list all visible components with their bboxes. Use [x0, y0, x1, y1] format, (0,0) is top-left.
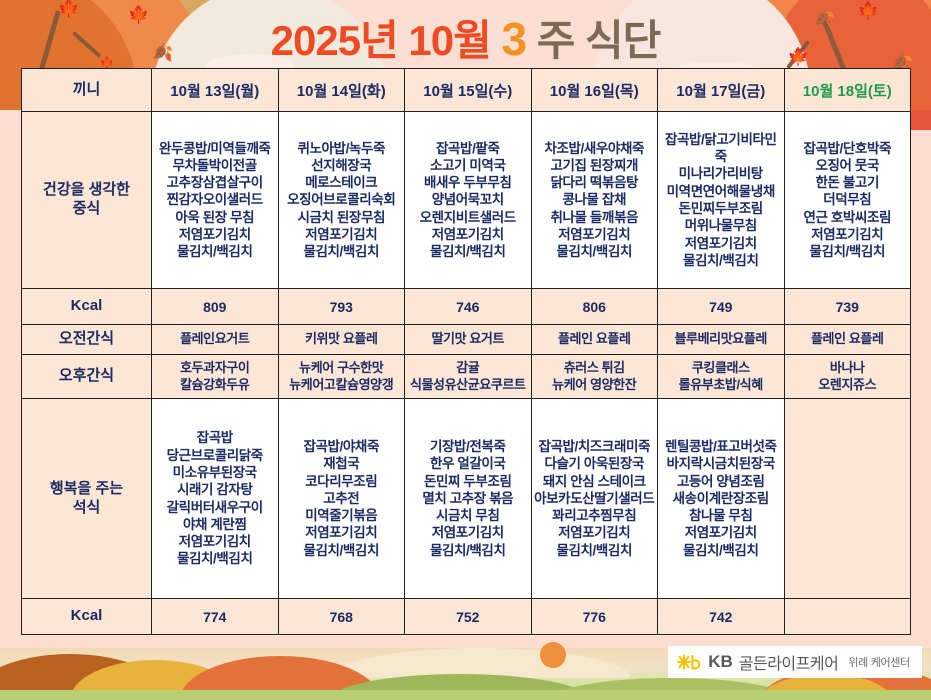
afternoon-snack-thu: 츄러스 튀김뉴케어 영양한잔	[531, 355, 658, 399]
footer-logo: KB 골든라이프케어 위례 케어센터	[668, 646, 922, 678]
row-label-dinner-kcal: Kcal	[22, 599, 152, 635]
header-day-thu: 10월 16일(목)	[531, 69, 658, 112]
lunch-cell-fri: 잡곡밥/닭고기비타민죽미나리가리비탕미역면연어해물냉채돈민찌두부조림머위나물무침…	[658, 112, 785, 289]
afternoon-snack-wed: 감귤식물성유산균요쿠르트	[405, 355, 532, 399]
row-label-lunch-kcal: Kcal	[22, 289, 152, 325]
dinner-cell-mon: 잡곡밥당근브로콜리닭죽미소유부된장국시래기 감자탕갈릭버터새우구이야채 계란찜저…	[152, 399, 279, 599]
table-row-dinner-kcal: Kcal 774 768 752 776 742	[22, 599, 911, 635]
lunch-cell-thu: 차조밥/새우야채죽고기집 된장찌개닭다리 떡볶음탕콩나물 잡채취나물 들깨볶음저…	[531, 112, 658, 289]
morning-snack-wed: 딸기맛 요거트	[405, 325, 532, 355]
weekly-menu-table: 끼니 10월 13일(월) 10월 14일(화) 10월 15일(수) 10월 …	[21, 68, 911, 635]
dinner-kcal-sat	[784, 599, 911, 635]
row-label-lunch: 건강을 생각한중식	[22, 112, 152, 289]
lunch-kcal-sat: 739	[784, 289, 911, 325]
lunch-kcal-tue: 793	[278, 289, 405, 325]
table-row-lunch-kcal: Kcal 809 793 746 806 749 739	[22, 289, 911, 325]
morning-snack-tue: 키위맛 요플레	[278, 325, 405, 355]
header-day-sat: 10월 18일(토)	[784, 69, 911, 112]
lunch-kcal-fri: 749	[658, 289, 785, 325]
lunch-cell-mon: 완두콩밥/미역들깨죽무차돌박이전골고추장삼겹살구이찐감자오이샐러드아욱 된장 무…	[152, 112, 279, 289]
row-label-dinner: 행복을 주는석식	[22, 399, 152, 599]
lunch-kcal-wed: 746	[405, 289, 532, 325]
lunch-cell-sat: 잡곡밥/단호박죽오징어 뭇국한돈 불고기더덕무침연근 호박씨조림저염포기김치물김…	[784, 112, 911, 289]
afternoon-snack-fri: 쿠킹클래스롤유부초밥/식혜	[658, 355, 785, 399]
table-header-row: 끼니 10월 13일(월) 10월 14일(화) 10월 15일(수) 10월 …	[22, 69, 911, 112]
bottom-grass	[0, 690, 931, 700]
table-row-afternoon-snack: 오후간식 호두과자구이칼슘강화두유 뉴케어 구수한맛뉴케어고칼슘영양갱 감귤식물…	[22, 355, 911, 399]
header-meal-label: 끼니	[22, 69, 152, 112]
weekly-menu-table-wrapper: 끼니 10월 13일(월) 10월 14일(화) 10월 15일(수) 10월 …	[21, 68, 910, 635]
lunch-cell-wed: 잡곡밥/팥죽소고기 미역국배새우 두부무침양념어묵꼬치오렌지비트샐러드저염포기김…	[405, 112, 532, 289]
row-label-afternoon-snack: 오후간식	[22, 355, 152, 399]
morning-snack-sat: 플레인 요플레	[784, 325, 911, 355]
lunch-kcal-mon: 809	[152, 289, 279, 325]
row-label-morning-snack: 오전간식	[22, 325, 152, 355]
header-day-tue: 10월 14일(화)	[278, 69, 405, 112]
dinner-kcal-tue: 768	[278, 599, 405, 635]
morning-snack-mon: 플레인요거트	[152, 325, 279, 355]
dinner-kcal-thu: 776	[531, 599, 658, 635]
logo-name-text: 골든라이프케어	[739, 650, 839, 674]
dinner-cell-wed: 기장밥/전복죽한우 얼갈이국돈민찌 두부조림멸치 고추장 볶음시금치 무침저염포…	[405, 399, 532, 599]
afternoon-snack-mon: 호두과자구이칼슘강화두유	[152, 355, 279, 399]
title-date: 2025년 10월	[271, 17, 491, 64]
logo-brand-text: KB	[708, 652, 733, 672]
kb-star-icon	[676, 652, 702, 672]
logo-center-text: 위례 케어센터	[848, 654, 910, 670]
afternoon-snack-sat: 바나나오렌지쥬스	[784, 355, 911, 399]
title-week-number: 3	[501, 13, 526, 65]
table-row-lunch: 건강을 생각한중식 완두콩밥/미역들깨죽무차돌박이전골고추장삼겹살구이찐감자오이…	[22, 112, 911, 289]
afternoon-snack-tue: 뉴케어 구수한맛뉴케어고칼슘영양갱	[278, 355, 405, 399]
lunch-cell-tue: 퀴노아밥/녹두죽선지해장국메로스테이크오징어브로콜리숙회시금치 된장무침저염포기…	[278, 112, 405, 289]
maple-leaf-icon: 🍁	[58, 0, 79, 17]
table-row-morning-snack: 오전간식 플레인요거트 키위맛 요플레 딸기맛 요거트 플레인 요플레 블루베리…	[22, 325, 911, 355]
morning-snack-thu: 플레인 요플레	[531, 325, 658, 355]
dinner-cell-tue: 잡곡밥/야채죽재첩국코다리무조림고추전미역줄기볶음저염포기김치물김치/백김치	[278, 399, 405, 599]
dinner-cell-fri: 렌틸콩밥/표고버섯죽바지락시금치된장국고등어 양념조림새송이계란장조림참나물 무…	[658, 399, 785, 599]
dinner-kcal-wed: 752	[405, 599, 532, 635]
header-day-fri: 10월 17일(금)	[658, 69, 785, 112]
dinner-cell-sat	[784, 399, 911, 599]
page-title: 2025년 10월 3 주 식단	[0, 16, 931, 62]
dinner-kcal-fri: 742	[658, 599, 785, 635]
dinner-cell-thu: 잡곡밥/치즈크래미죽다슬기 아욱된장국돼지 안심 스테이크아보카도산딸기샐러드꽈…	[531, 399, 658, 599]
lunch-kcal-thu: 806	[531, 289, 658, 325]
dinner-kcal-mon: 774	[152, 599, 279, 635]
morning-snack-fri: 블루베리맛요플레	[658, 325, 785, 355]
table-row-dinner: 행복을 주는석식 잡곡밥당근브로콜리닭죽미소유부된장국시래기 감자탕갈릭버터새우…	[22, 399, 911, 599]
meal-plan-poster: 🍁 🍂 🍁 🍁 🍁 🍂 🍁 🍂 🍁 2025년 10월 3 주 식단	[0, 0, 931, 700]
sun-icon	[540, 642, 566, 668]
title-suffix: 주 식단	[537, 17, 661, 64]
header-day-wed: 10월 15일(수)	[405, 69, 532, 112]
header-day-mon: 10월 13일(월)	[152, 69, 279, 112]
